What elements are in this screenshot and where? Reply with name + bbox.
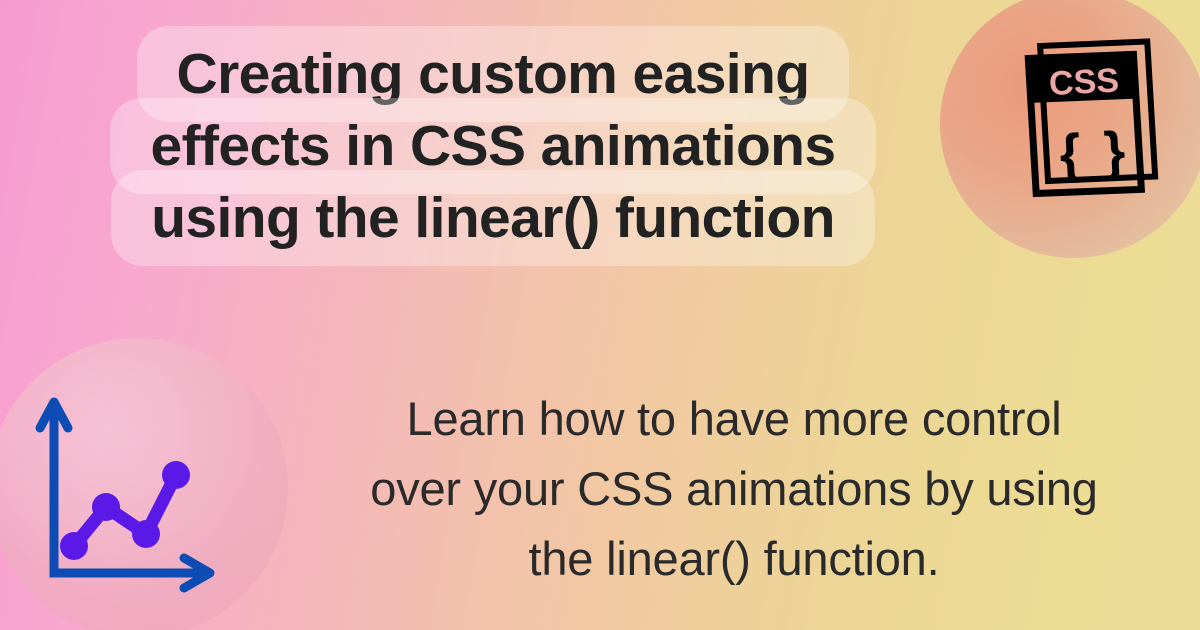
subtitle-block: Learn how to have more control over your… — [300, 384, 1168, 594]
page-title: Creating custom easing effects in CSS an… — [58, 38, 928, 254]
line-chart-icon — [18, 380, 248, 605]
subtitle-line-1: Learn how to have more control — [300, 384, 1168, 454]
svg-text:}: } — [1102, 121, 1126, 182]
css-file-icon: CSS { } — [1014, 18, 1184, 208]
subtitle-line-3: the linear() function. — [300, 524, 1168, 594]
subtitle-line-2: over your CSS animations by using — [300, 454, 1168, 524]
title-line-3: using the linear() function — [117, 176, 869, 260]
title-block: Creating custom easing effects in CSS an… — [58, 38, 928, 254]
svg-text:{: { — [1058, 123, 1082, 184]
svg-text:CSS: CSS — [1048, 61, 1120, 103]
